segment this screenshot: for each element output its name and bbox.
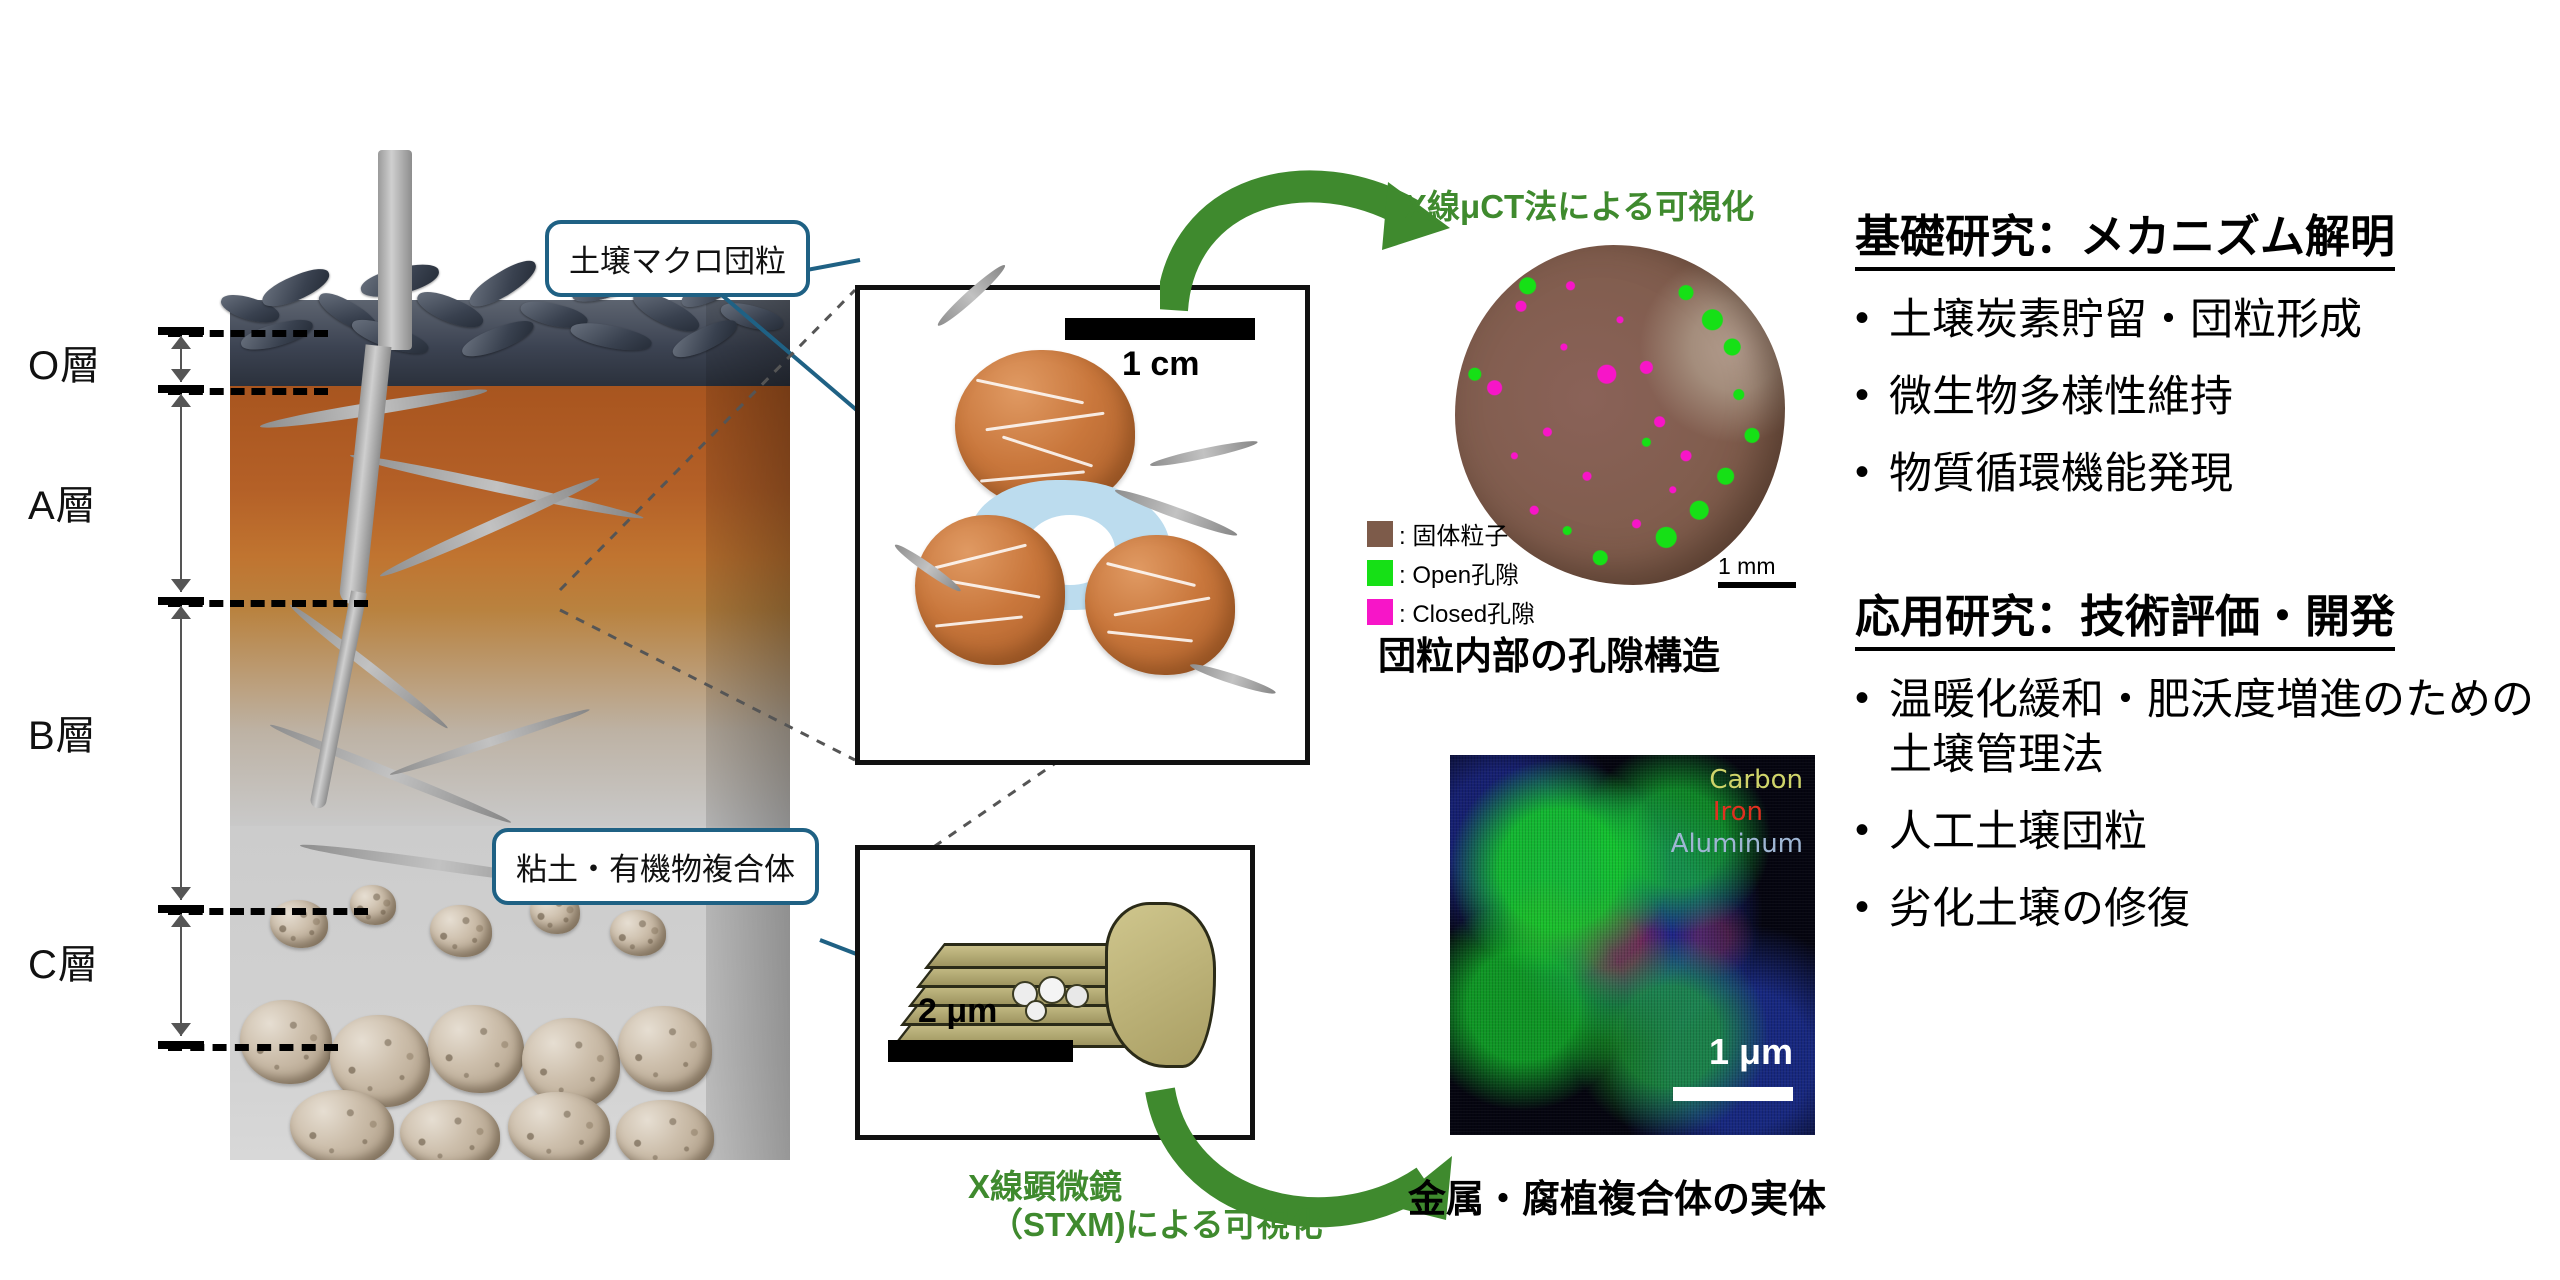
research-section-basic: 基礎研究：メカニズム解明 • 土壌炭素貯留・団粒形成 • 微生物多様性維持 • … bbox=[1855, 200, 2555, 502]
bullet-list-applied: • 温暖化緩和・肥沃度増進のための土壌管理法 • 人工土壌団粒 • 劣化土壌の修… bbox=[1855, 673, 2555, 937]
research-summary-column: 基礎研究：メカニズム解明 • 土壌炭素貯留・団粒形成 • 微生物多様性維持 • … bbox=[1855, 200, 2555, 937]
legend-swatch-closed-pore bbox=[1367, 599, 1393, 625]
uct-legend-row: : 固体粒子 bbox=[1367, 516, 1535, 551]
stxm-caption: 金属・腐植複合体の実体 bbox=[1408, 1168, 1826, 1223]
bullet-marker: • bbox=[1855, 293, 1889, 344]
mineral-particle bbox=[1025, 1000, 1047, 1022]
organic-matter-blob bbox=[1105, 902, 1216, 1068]
depth-tick bbox=[158, 905, 204, 913]
gravel bbox=[610, 910, 666, 956]
legend-label-closed-pore: : Closed孔隙 bbox=[1399, 594, 1535, 629]
section-heading-basic: 基礎研究：メカニズム解明 bbox=[1855, 200, 2395, 271]
soil-aggregate bbox=[1085, 535, 1235, 675]
uct-scale-label: 1 mm bbox=[1718, 553, 1796, 580]
legend-swatch-open-pore bbox=[1367, 560, 1393, 586]
depth-arrow-o bbox=[180, 336, 182, 382]
bullet-text: 物質循環機能発現 bbox=[1889, 447, 2555, 502]
green-arrow-top bbox=[1160, 150, 1460, 320]
bullet-marker: • bbox=[1855, 882, 1889, 933]
section-heading-applied: 応用研究：技術評価・開発 bbox=[1855, 580, 2395, 651]
scale-bar-2um bbox=[888, 1040, 1073, 1062]
callout-clay-organic-complex-text: 粘土・有機物複合体 bbox=[516, 852, 795, 887]
depth-tick bbox=[158, 327, 204, 335]
depth-tick bbox=[158, 597, 204, 605]
scale-label-1cm: 1 cm bbox=[1122, 345, 1200, 384]
root-hair bbox=[1149, 437, 1259, 470]
horizon-label-o: O層 bbox=[28, 333, 101, 391]
bullet-marker: • bbox=[1855, 805, 1889, 856]
uct-scale-bar bbox=[1718, 582, 1796, 588]
bullet-text: 人工土壌団粒 bbox=[1889, 805, 2555, 860]
depth-tick bbox=[158, 385, 204, 393]
soil-column bbox=[230, 300, 790, 1160]
bullet-item: • 土壌炭素貯留・団粒形成 bbox=[1855, 293, 2555, 348]
bullet-item: • 物質循環機能発現 bbox=[1855, 447, 2555, 502]
callout-clay-organic-complex: 粘土・有機物複合体 bbox=[492, 828, 819, 905]
mineral-particle bbox=[1065, 984, 1089, 1008]
uct-legend: : 固体粒子 : Open孔隙 : Closed孔隙 bbox=[1367, 516, 1535, 629]
gravel bbox=[290, 1090, 394, 1160]
legend-label-open-pore: : Open孔隙 bbox=[1399, 555, 1519, 590]
bullet-item: • 劣化土壌の修復 bbox=[1855, 882, 2555, 937]
scale-label-2um: 2 μm bbox=[918, 992, 997, 1031]
depth-arrow-c bbox=[180, 914, 182, 1036]
bullet-marker: • bbox=[1855, 673, 1889, 724]
scale-bar-1cm bbox=[1065, 318, 1255, 340]
bullet-item: • 微生物多様性維持 bbox=[1855, 370, 2555, 425]
research-section-applied: 応用研究：技術評価・開発 • 温暖化緩和・肥沃度増進のための土壌管理法 • 人工… bbox=[1855, 580, 2555, 937]
gravel bbox=[508, 1092, 610, 1160]
plant-stem bbox=[378, 150, 412, 350]
bullet-text: 微生物多様性維持 bbox=[1889, 370, 2555, 425]
stxm-scale-label: 1 μm bbox=[1709, 1031, 1793, 1073]
stxm-label-aluminum: Aluminum bbox=[1671, 829, 1803, 859]
stxm-scale-bar bbox=[1673, 1087, 1793, 1101]
stxm-image: Carbon Iron Aluminum 1 μm bbox=[1450, 755, 1815, 1135]
root-hair bbox=[934, 261, 1008, 329]
uct-caption: 団粒内部の孔隙構造 bbox=[1378, 625, 1720, 680]
aggregate-panel: 1 cm bbox=[855, 285, 1310, 765]
depth-arrow-a bbox=[180, 394, 182, 592]
column-shading bbox=[706, 300, 790, 1160]
stxm-label-carbon: Carbon bbox=[1709, 765, 1803, 795]
legend-swatch-solid-particle bbox=[1367, 521, 1393, 547]
bullet-item: • 温暖化緩和・肥沃度増進のための土壌管理法 bbox=[1855, 673, 2555, 783]
callout-macro-aggregate: 土壌マクロ団粒 bbox=[545, 220, 810, 297]
bullet-text: 劣化土壌の修復 bbox=[1889, 882, 2555, 937]
horizon-label-a: A層 bbox=[28, 473, 97, 531]
soil-aggregate bbox=[915, 515, 1065, 665]
soil-profile-illustration: O層 A層 B層 C層 bbox=[0, 0, 820, 1280]
arrow-label-uct: X線μCT法による可視化 bbox=[1405, 188, 1754, 226]
bullet-text: 温暖化緩和・肥沃度増進のための土壌管理法 bbox=[1889, 673, 2555, 783]
uct-scale: 1 mm bbox=[1718, 553, 1796, 588]
arrow-label-stxm-line2: （STXM)による可視化 bbox=[990, 1206, 1323, 1244]
horizon-label-b: B層 bbox=[28, 703, 97, 761]
uct-legend-row: : Open孔隙 bbox=[1367, 555, 1535, 590]
depth-arrow-b bbox=[180, 606, 182, 900]
mineral-particle bbox=[1038, 976, 1066, 1004]
horizon-label-c: C層 bbox=[28, 932, 99, 990]
bullet-marker: • bbox=[1855, 370, 1889, 421]
bullet-marker: • bbox=[1855, 447, 1889, 498]
arrow-label-stxm-line1: X線顕微鏡 bbox=[968, 1168, 1323, 1206]
gravel bbox=[430, 905, 492, 957]
legend-label-solid-particle: : 固体粒子 bbox=[1399, 516, 1508, 551]
bullet-item: • 人工土壌団粒 bbox=[1855, 805, 2555, 860]
gravel bbox=[350, 885, 396, 925]
arrow-label-stxm: X線顕微鏡 （STXM)による可視化 bbox=[968, 1168, 1323, 1244]
depth-tick bbox=[158, 1041, 204, 1049]
root-hair bbox=[1188, 660, 1277, 697]
uct-legend-row: : Closed孔隙 bbox=[1367, 594, 1535, 629]
bullet-list-basic: • 土壌炭素貯留・団粒形成 • 微生物多様性維持 • 物質循環機能発現 bbox=[1855, 293, 2555, 502]
bullet-text: 土壌炭素貯留・団粒形成 bbox=[1889, 293, 2555, 348]
stxm-label-iron: Iron bbox=[1713, 797, 1763, 827]
callout-macro-aggregate-text: 土壌マクロ団粒 bbox=[569, 244, 786, 279]
